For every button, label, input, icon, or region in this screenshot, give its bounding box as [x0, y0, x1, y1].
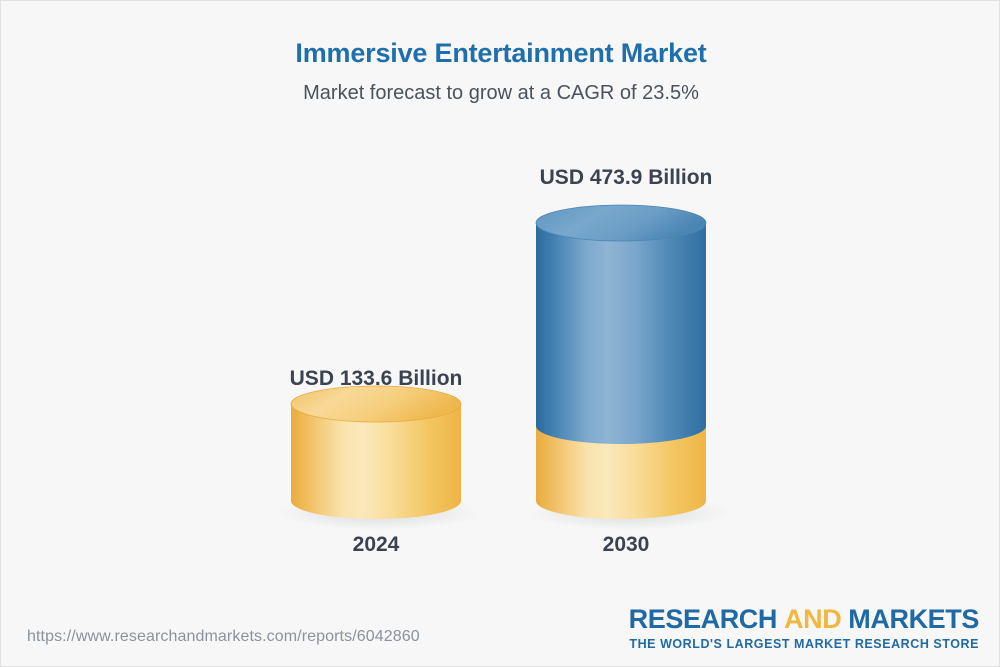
brand-logo[interactable]: RESEARCHANDMARKETS THE WORLD'S LARGEST M… [629, 606, 979, 651]
value-label-2024: USD 133.6 Billion [226, 367, 526, 391]
bar-2024-top-cap [291, 386, 461, 422]
bar-2030-top-cap [536, 205, 706, 241]
infographic-canvas: Immersive Entertainment Market Market fo… [0, 0, 1000, 667]
bar-2030-growth-segment [536, 223, 706, 444]
logo-wordmark: RESEARCHANDMARKETS [629, 606, 979, 633]
logo-word-markets: MARKETS [848, 604, 979, 634]
bar-2030 [529, 205, 729, 530]
bar-2024 [279, 386, 479, 530]
logo-word-research: RESEARCH [629, 604, 777, 634]
logo-word-and: AND [784, 604, 841, 634]
source-url[interactable]: https://www.researchandmarkets.com/repor… [27, 628, 420, 646]
category-label-2030: 2030 [476, 533, 776, 557]
cylinder-bar-chart [1, 1, 1000, 601]
logo-tagline: THE WORLD'S LARGEST MARKET RESEARCH STOR… [629, 638, 979, 651]
chart-plot-area: USD 133.6 Billion USD 473.9 Billion 2024… [1, 1, 1000, 601]
value-label-2030: USD 473.9 Billion [476, 166, 776, 190]
